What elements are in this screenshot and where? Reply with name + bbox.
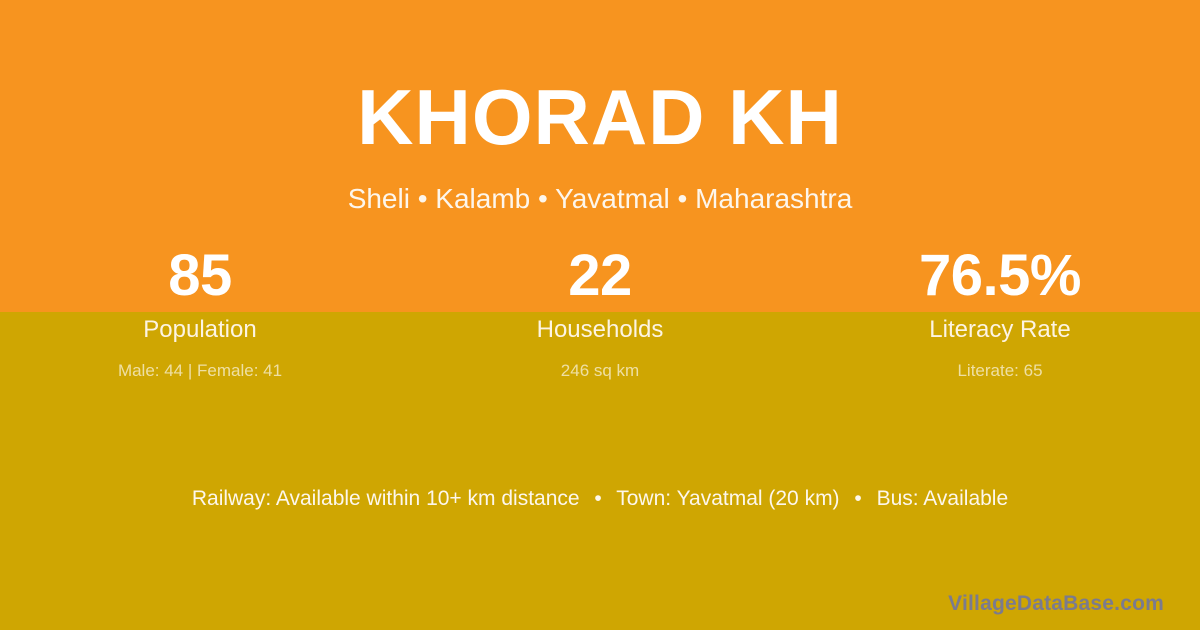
stat-label-population: Population [0, 316, 400, 345]
stat-sub-population: Male: 44 | Female: 41 [0, 361, 400, 381]
village-info-card: KHORAD KH Sheli • Kalamb • Yavatmal • Ma… [0, 0, 1200, 630]
page-title: KHORAD KH [0, 78, 1200, 156]
stat-value-literacy-rate: 76.5% [800, 246, 1200, 307]
stat-sub-households: 246 sq km [400, 361, 800, 381]
site-brand-label: VillageDataBase.com [948, 591, 1164, 616]
info-separator-2: • [845, 485, 870, 512]
stat-value-population: 85 [0, 246, 400, 307]
stat-label-households: Households [400, 316, 800, 345]
info-town: Town: Yavatmal (20 km) [616, 487, 839, 510]
stat-label-literacy-rate: Literacy Rate [800, 316, 1200, 345]
stat-value-households: 22 [400, 246, 800, 307]
breadcrumb-location: Sheli • Kalamb • Yavatmal • Maharashtra [0, 182, 1200, 216]
info-separator-1: • [585, 485, 610, 512]
stat-sub-literacy-rate: Literate: 65 [800, 361, 1200, 381]
stats-strip: 85 Population Male: 44 | Female: 41 22 H… [0, 246, 1200, 381]
info-bus: Bus: Available [877, 487, 1009, 510]
stat-households: 22 Households 246 sq km [400, 246, 800, 381]
connectivity-info-row: Railway: Available within 10+ km distanc… [0, 485, 1200, 512]
stat-literacy-rate: 76.5% Literacy Rate Literate: 65 [800, 246, 1200, 381]
info-railway: Railway: Available within 10+ km distanc… [192, 487, 580, 510]
stat-population: 85 Population Male: 44 | Female: 41 [0, 246, 400, 381]
